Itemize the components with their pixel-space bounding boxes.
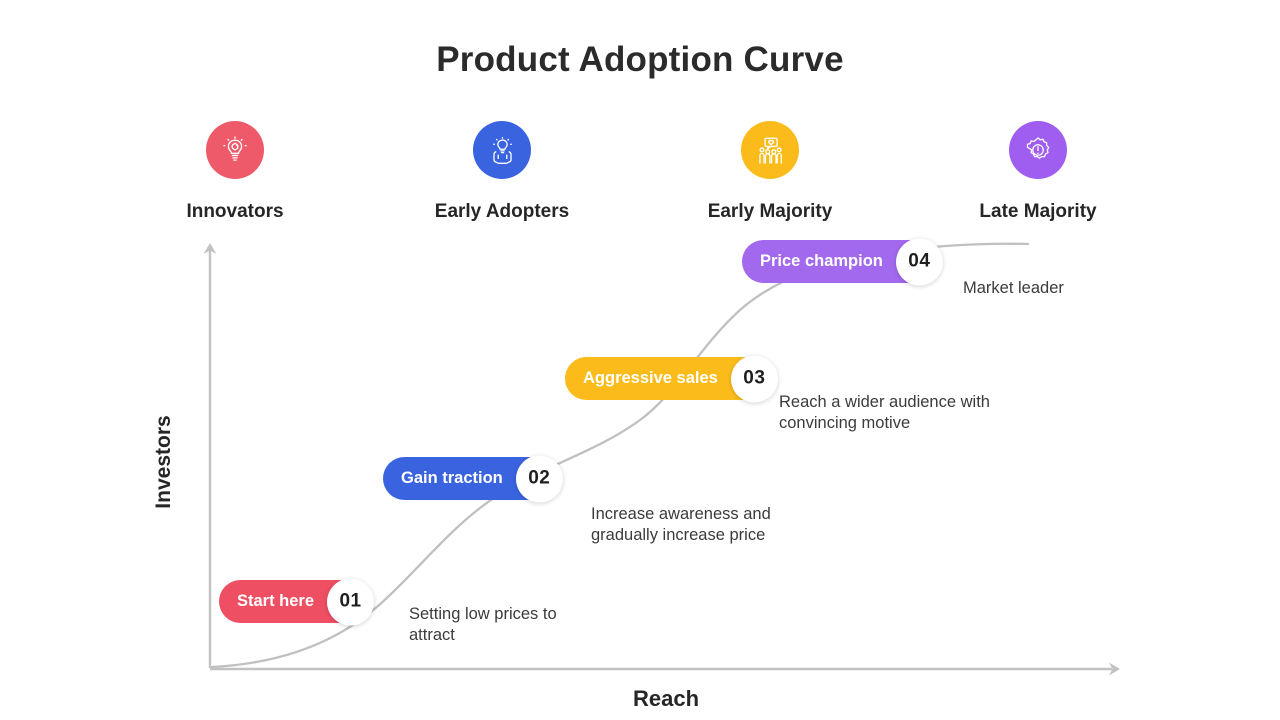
x-axis xyxy=(210,663,1120,676)
step-04[interactable]: Price champion 04 xyxy=(742,240,929,283)
step-04-label: Price champion xyxy=(760,252,883,271)
step-03-description: Reach a wider audience with convincing m… xyxy=(779,392,1029,433)
y-axis xyxy=(204,243,217,668)
step-01-description: Setting low prices to attract xyxy=(409,604,624,645)
slide-canvas: Product Adoption Curve Innovators xyxy=(0,0,1280,720)
step-04-number-badge: 04 xyxy=(896,238,943,285)
step-01-number-badge: 01 xyxy=(327,578,374,625)
step-01-label: Start here xyxy=(237,592,314,611)
step-02-number-badge: 02 xyxy=(516,455,563,502)
step-03-number-badge: 03 xyxy=(731,355,778,402)
step-02-description: Increase awareness and gradually increas… xyxy=(591,504,821,545)
y-axis-label: Investors xyxy=(152,392,176,532)
step-03[interactable]: Aggressive sales 03 xyxy=(565,357,764,400)
x-axis-label: Reach xyxy=(566,686,766,712)
step-02-label: Gain traction xyxy=(401,469,503,488)
step-02[interactable]: Gain traction 02 xyxy=(383,457,549,500)
step-03-label: Aggressive sales xyxy=(583,369,718,388)
step-01[interactable]: Start here 01 xyxy=(219,580,360,623)
step-04-description: Market leader xyxy=(963,278,1163,299)
